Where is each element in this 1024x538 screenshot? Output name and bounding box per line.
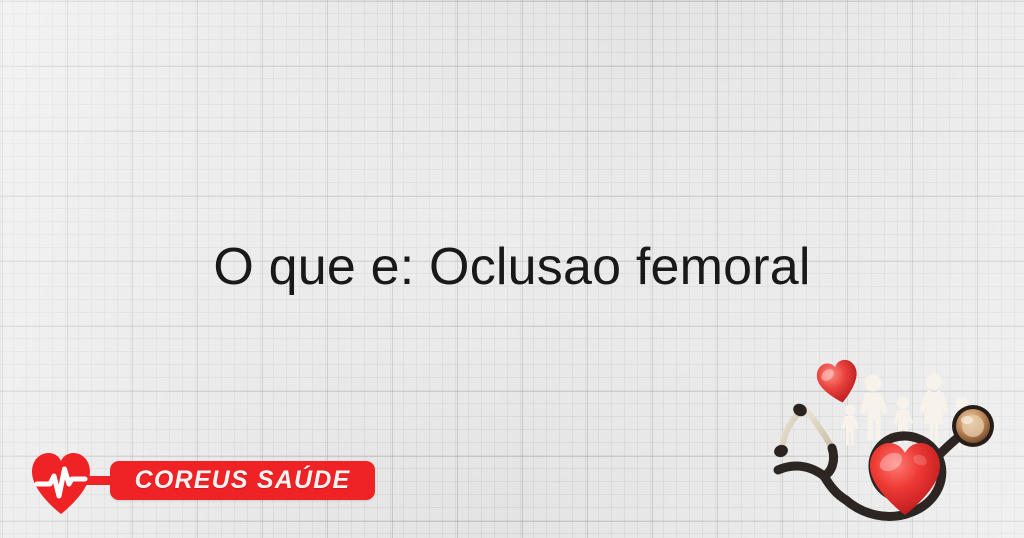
brand-logo[interactable]: COREUS SAÚDE bbox=[30, 448, 350, 520]
heart-with-pulse-icon bbox=[30, 451, 92, 515]
page-title: O que e: Oclusao femoral bbox=[0, 236, 1024, 298]
medical-illustration bbox=[770, 352, 1024, 538]
slide-canvas: O que e: Oclusao femoral COREUS SAÚDE bbox=[0, 0, 1024, 538]
small-heart-icon bbox=[814, 358, 862, 407]
stethoscope-chestpiece-icon bbox=[952, 405, 994, 447]
brand-name-pill: COREUS SAÚDE bbox=[110, 461, 375, 500]
brand-name-label: COREUS SAÚDE bbox=[110, 461, 375, 500]
